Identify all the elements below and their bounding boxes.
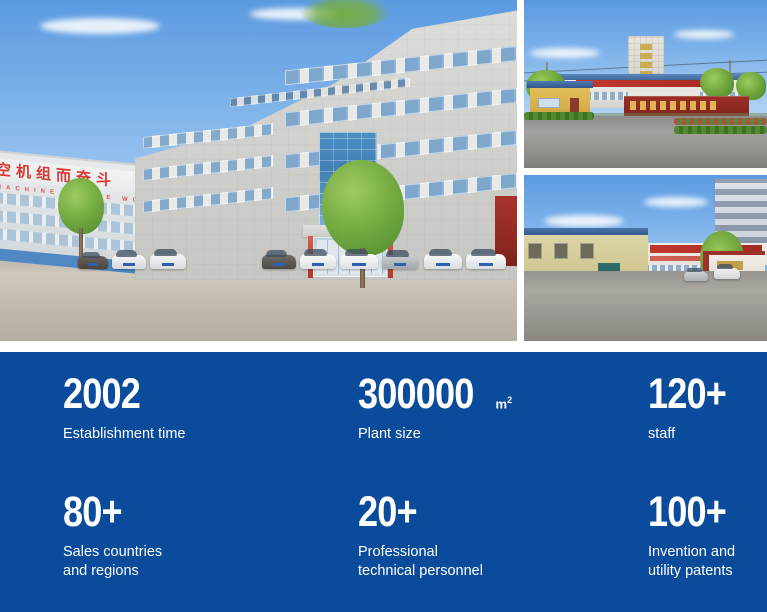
stat-value-row: 300000 m2 xyxy=(358,372,648,416)
stat-sales-countries: 80+ Sales countries and regions xyxy=(63,490,358,608)
cloud xyxy=(644,197,708,207)
stat-label: Establishment time xyxy=(63,425,358,444)
stat-plant-size: 300000 m2 Plant size xyxy=(358,372,648,490)
stat-value: 20+ xyxy=(358,490,417,534)
stat-label: Professional technical personnel xyxy=(358,543,648,581)
stat-staff: 120+ staff xyxy=(648,372,767,490)
tree-foliage xyxy=(58,178,104,234)
parked-car xyxy=(424,254,462,269)
parked-car xyxy=(262,255,296,269)
gatehouse-window xyxy=(538,98,560,108)
hedge xyxy=(524,112,594,120)
parked-car xyxy=(714,268,740,279)
stat-value-row: 80+ xyxy=(63,490,358,534)
licence-plate xyxy=(88,263,99,266)
statistics-grid: 2002 Establishment time 300000 m2 Plant … xyxy=(0,352,767,612)
company-profile-page: 空机组而奋斗 MACHINE IN THE WORLD xyxy=(0,0,767,612)
cloud xyxy=(544,215,624,227)
hedge xyxy=(674,126,767,134)
licence-plate xyxy=(479,263,493,266)
stat-label: Plant size xyxy=(358,425,648,444)
flower-bed xyxy=(674,118,767,125)
stat-label: Invention and utility patents xyxy=(648,543,767,581)
parked-car xyxy=(382,255,418,269)
stat-value-row: 100+ xyxy=(648,490,767,534)
parked-car xyxy=(340,254,378,269)
main-office-building xyxy=(135,10,517,280)
statistics-panel: 2002 Establishment time 300000 m2 Plant … xyxy=(0,352,767,612)
stat-value: 300000 xyxy=(358,372,474,416)
stat-value: 80+ xyxy=(63,490,122,534)
stat-value: 100+ xyxy=(648,490,726,534)
stat-label: Sales countries and regions xyxy=(63,543,358,581)
parked-car xyxy=(684,271,708,281)
tree xyxy=(700,68,734,98)
tree-foliage xyxy=(322,160,404,256)
stat-value-row: 20+ xyxy=(358,490,648,534)
licence-plate xyxy=(352,263,366,266)
stat-label: staff xyxy=(648,425,767,444)
workshop-window xyxy=(554,243,568,259)
stat-patents: 100+ Invention and utility patents xyxy=(648,490,767,608)
cloud xyxy=(530,48,600,58)
parked-car xyxy=(466,254,506,269)
red-banner xyxy=(576,80,706,87)
licence-plate xyxy=(394,263,407,266)
workshop-window xyxy=(528,243,542,259)
licence-plate xyxy=(312,263,325,266)
licence-plate xyxy=(436,263,450,266)
stat-value: 120+ xyxy=(648,372,726,416)
cloud xyxy=(674,30,734,39)
yard-pavement xyxy=(524,271,767,341)
parked-car xyxy=(300,254,336,269)
workshop-window xyxy=(580,243,594,259)
parked-car-row xyxy=(0,243,517,269)
photo-office-building-exterior: 空机组而奋斗 MACHINE IN THE WORLD xyxy=(0,0,517,341)
parked-car xyxy=(150,254,186,269)
stat-establishment-time: 2002 Establishment time xyxy=(63,372,358,490)
stat-technical-personnel: 20+ Professional technical personnel xyxy=(358,490,648,608)
photo-factory-main-gate xyxy=(524,0,767,168)
blue-roof xyxy=(524,228,648,235)
parked-car xyxy=(112,255,146,269)
stat-unit-square-metre: m2 xyxy=(496,393,513,411)
stat-value-row: 120+ xyxy=(648,372,767,416)
licence-plate xyxy=(162,263,175,266)
blue-roof xyxy=(527,81,593,88)
licence-plate xyxy=(273,263,285,266)
stat-value: 2002 xyxy=(63,372,140,416)
photo-grid: 空机组而奋斗 MACHINE IN THE WORLD xyxy=(0,0,767,341)
photo-factory-yard-workshop xyxy=(524,175,767,341)
stat-value-row: 2002 xyxy=(63,372,358,416)
licence-plate xyxy=(123,263,135,266)
parked-car xyxy=(78,256,108,269)
